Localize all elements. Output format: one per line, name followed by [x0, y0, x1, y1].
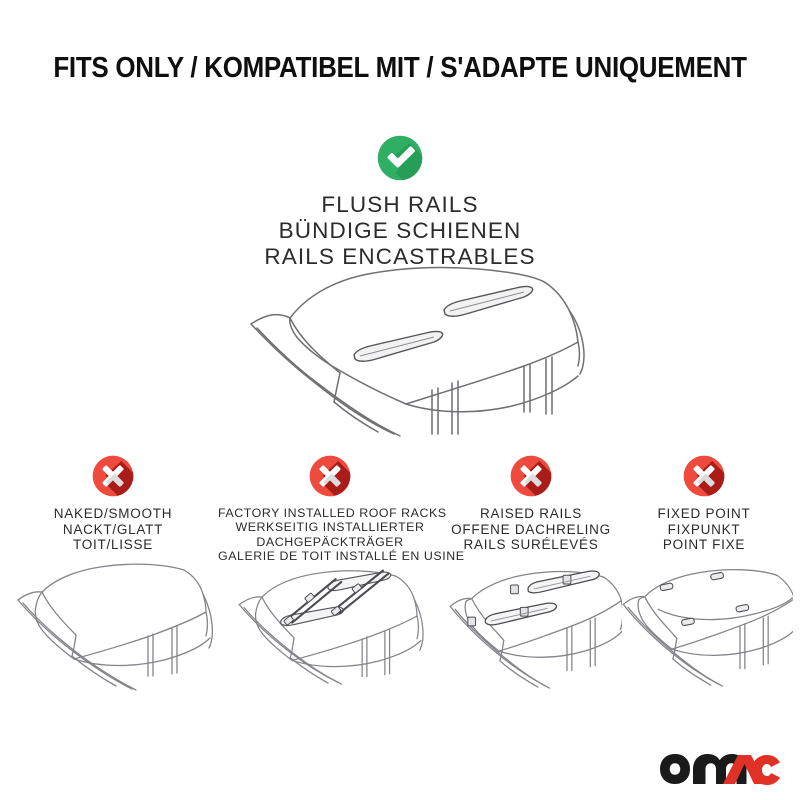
check-circle-icon	[377, 135, 423, 181]
car-roof-naked-smooth-illustration	[8, 554, 218, 694]
option-label-line-3: TOIT/LISSE	[8, 537, 218, 553]
option-label-line-1: RAISED RAILS	[440, 506, 622, 522]
option-label-line-2: NACKT/GLATT	[8, 522, 218, 538]
option-label-line-1: NAKED/SMOOTH	[8, 506, 218, 522]
option-label-line-2: WERKSEITIG INSTALLIERTER	[218, 520, 442, 534]
cross-circle-icon	[309, 455, 351, 497]
cross-circle-icon	[92, 455, 134, 497]
page-title: FITS ONLY / KOMPATIBEL MIT / S'ADAPTE UN…	[36, 52, 764, 85]
option-label-line-2: OFFENE DACHRELING	[440, 522, 622, 538]
option-raised-rails: RAISED RAILS OFFENE DACHRELING RAILS SUR…	[440, 450, 622, 553]
option-fixed-point: FIXED POINT FIXPUNKT POINT FIXE	[615, 450, 793, 553]
option-label-line-1: FACTORY INSTALLED ROOF RACKS	[218, 506, 442, 520]
hero-label-line-1: FLUSH RAILS	[0, 192, 800, 218]
compatible-labels: FLUSH RAILS BÜNDIGE SCHIENEN RAILS ENCAS…	[0, 192, 800, 270]
option-labels: RAISED RAILS OFFENE DACHRELING RAILS SUR…	[440, 506, 622, 553]
option-label-line-2: FIXPUNKT	[615, 522, 793, 538]
option-labels: FIXED POINT FIXPUNKT POINT FIXE	[615, 506, 793, 553]
option-factory-roof-racks: FACTORY INSTALLED ROOF RACKS WERKSEITIG …	[218, 450, 442, 564]
incompatible-options-row: NAKED/SMOOTH NACKT/GLATT TOIT/LISSE	[0, 450, 800, 700]
option-labels: NAKED/SMOOTH NACKT/GLATT TOIT/LISSE	[8, 506, 218, 553]
hero-label-line-2: BÜNDIGE SCHIENEN	[0, 218, 800, 244]
option-naked-smooth: NAKED/SMOOTH NACKT/GLATT TOIT/LISSE	[8, 450, 218, 553]
cross-circle-icon	[683, 455, 725, 497]
car-roof-flush-rails-illustration	[228, 262, 588, 437]
car-roof-raised-rails-illustration	[440, 550, 622, 690]
omac-logo: OMAC	[658, 752, 782, 786]
compatible-option: FLUSH RAILS BÜNDIGE SCHIENEN RAILS ENCAS…	[0, 135, 800, 270]
car-roof-fixed-point-illustration	[615, 550, 793, 690]
car-roof-factory-racks-illustration	[218, 546, 442, 686]
option-label-line-1: FIXED POINT	[615, 506, 793, 522]
cross-circle-icon	[510, 455, 552, 497]
